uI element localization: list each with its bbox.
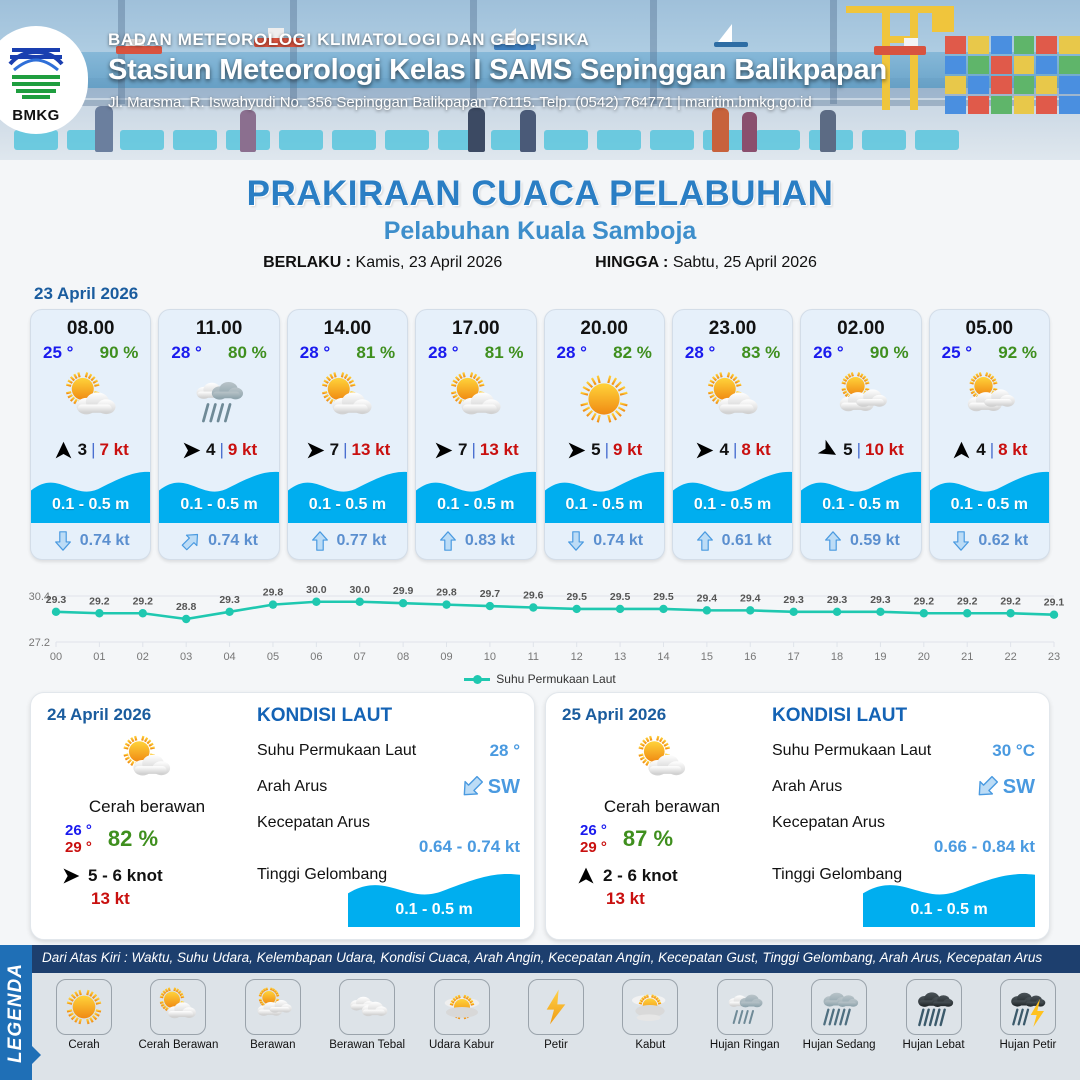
current-direction-arrow-icon [176, 525, 207, 556]
hourly-wind-sep: | [219, 440, 223, 460]
legend-icon-box [434, 979, 490, 1035]
hourly-wind: 4 | 9 kt [159, 435, 278, 465]
wind-direction-arrow-icon [576, 866, 596, 886]
daily-humidity: 87 % [623, 826, 673, 852]
hourly-time: 11.00 [159, 310, 278, 340]
svg-text:22: 22 [1004, 651, 1016, 663]
hourly-current-speed: 0.62 kt [978, 532, 1028, 550]
wind-direction-arrow-icon [566, 440, 587, 461]
hourly-wind: 7 | 13 kt [416, 435, 535, 465]
hourly-humidity: 92 % [998, 343, 1037, 363]
hourly-wind: 5 | 10 kt [801, 435, 920, 465]
daily-wave: 0.1 - 0.5 m [348, 869, 520, 927]
petir-icon [532, 983, 580, 1031]
hourly-humidity: 90 % [100, 343, 139, 363]
hourly-current-speed: 0.61 kt [722, 532, 772, 550]
hourly-card: 08.00 25 ° 90 % 3 | 7 kt 0.1 - 0.5 m 0.7… [30, 309, 151, 560]
hourly-weather-icon [31, 363, 150, 435]
daily-temps: 26 ° 29 ° 87 % [562, 822, 762, 857]
current-direction-value: SW [488, 776, 520, 799]
hourly-current-speed: 0.74 kt [593, 532, 643, 550]
svg-text:29.4: 29.4 [740, 592, 761, 604]
svg-text:29.5: 29.5 [653, 591, 674, 603]
hourly-current: 0.61 kt [673, 523, 792, 559]
svg-text:09: 09 [440, 651, 452, 663]
svg-text:23: 23 [1048, 651, 1060, 663]
hourly-card: 05.00 25 ° 92 % 4 | 8 kt 0.1 - 0.5 m [929, 309, 1050, 560]
svg-text:29.3: 29.3 [783, 594, 804, 606]
current-direction-arrow-icon [52, 530, 74, 552]
legend-icon-box [811, 979, 867, 1035]
hourly-wind-dir-value: 3 [78, 440, 87, 460]
hourly-time: 02.00 [801, 310, 920, 340]
hourly-wave: 0.1 - 0.5 m [673, 467, 792, 523]
wind-direction-arrow-icon [694, 440, 715, 461]
page-title: PRAKIRAAN CUACA PELABUHAN [0, 174, 1080, 214]
wave-graphic [545, 467, 665, 523]
wave-graphic [801, 467, 921, 523]
berawan-icon [956, 366, 1022, 432]
current-direction-arrow-icon [453, 769, 490, 806]
hourly-temperature: 28 ° [685, 343, 715, 363]
current-speed-label: Kecepatan Arus [257, 814, 370, 832]
cerah-berawan-icon [314, 366, 380, 432]
legend-item: Hujan Ringan [701, 979, 789, 1076]
current-direction-value-group: SW [974, 774, 1035, 800]
hourly-time: 23.00 [673, 310, 792, 340]
hourly-wind: 4 | 8 kt [930, 435, 1049, 465]
current-direction-arrow-icon [565, 530, 587, 552]
daily-forecast-card: 25 April 2026 Cerah berawan 26 ° 29 ° 87… [545, 692, 1050, 940]
svg-text:29.5: 29.5 [610, 591, 631, 603]
legend-icon-box [622, 979, 678, 1035]
daily-date: 24 April 2026 [47, 705, 247, 725]
legend-item: Berawan Tebal [323, 979, 411, 1076]
sea-condition-heading: KONDISI LAUT [772, 705, 1035, 727]
hourly-time: 14.00 [288, 310, 407, 340]
svg-text:29.2: 29.2 [133, 595, 154, 607]
hourly-wave-height: 0.1 - 0.5 m [801, 496, 920, 514]
daily-temp-max: 29 ° [580, 839, 607, 856]
valid-from-value: Kamis, 23 April 2026 [356, 254, 503, 271]
svg-text:14: 14 [657, 651, 669, 663]
cerah-berawan-icon [443, 366, 509, 432]
hourly-current: 0.74 kt [159, 523, 278, 559]
hourly-wave: 0.1 - 0.5 m [416, 467, 535, 523]
svg-text:20: 20 [918, 651, 930, 663]
svg-text:13: 13 [614, 651, 626, 663]
svg-text:29.2: 29.2 [89, 595, 110, 607]
hourly-current-speed: 0.74 kt [208, 532, 258, 550]
sst-chart: 30.427.200010203040506070809101112131415… [0, 568, 1080, 676]
current-direction-label: Arah Arus [257, 778, 327, 796]
validity-row: BERLAKU : Kamis, 23 April 2026 HINGGA : … [0, 254, 1080, 272]
svg-text:29.8: 29.8 [436, 587, 457, 599]
cerah-berawan-icon [700, 366, 766, 432]
legend-item-label: Kabut [635, 1039, 665, 1051]
hourly-temperature: 28 ° [557, 343, 587, 363]
hourly-current: 0.77 kt [288, 523, 407, 559]
daily-date: 25 April 2026 [562, 705, 762, 725]
wave-graphic [673, 467, 793, 523]
wind-direction-arrow-icon [814, 436, 843, 465]
legend-icon-box [528, 979, 584, 1035]
hourly-wind-sep: | [91, 440, 95, 460]
legend-item-label: Hujan Ringan [710, 1039, 780, 1051]
hourly-temperature: 28 ° [171, 343, 201, 363]
hourly-weather-icon [930, 363, 1049, 435]
daily-temp-max: 29 ° [65, 839, 92, 856]
hourly-time: 17.00 [416, 310, 535, 340]
legend-item-label: Udara Kabur [429, 1039, 494, 1051]
hourly-wave-height: 0.1 - 0.5 m [545, 496, 664, 514]
hourly-current: 0.59 kt [801, 523, 920, 559]
svg-text:08: 08 [397, 651, 409, 663]
hourly-temperature: 26 ° [813, 343, 843, 363]
hourly-wind-sep: | [733, 440, 737, 460]
hourly-wave-height: 0.1 - 0.5 m [930, 496, 1049, 514]
daily-condition: Cerah berawan [47, 797, 247, 817]
sst-label: Suhu Permukaan Laut [257, 742, 416, 760]
hourly-humidity: 80 % [228, 343, 267, 363]
svg-text:29.1: 29.1 [1044, 597, 1065, 609]
valid-from-label: BERLAKU : [263, 254, 351, 271]
current-speed-row: Kecepatan Arus [772, 805, 1035, 841]
current-direction-arrow-icon [968, 769, 1005, 806]
svg-text:29.2: 29.2 [914, 595, 935, 607]
legend-item: Hujan Petir [984, 979, 1072, 1076]
svg-text:05: 05 [267, 651, 279, 663]
hourly-wave: 0.1 - 0.5 m [545, 467, 664, 523]
hourly-humidity: 81 % [485, 343, 524, 363]
hourly-time: 05.00 [930, 310, 1049, 340]
daily-forecast-row: 24 April 2026 Cerah berawan 26 ° 29 ° 82… [0, 686, 1080, 940]
hourly-weather-icon [288, 363, 407, 435]
svg-text:27.2: 27.2 [29, 637, 50, 649]
current-direction-value-group: SW [459, 774, 520, 800]
sst-value: 30 °C [992, 741, 1035, 761]
sst-row: Suhu Permukaan Laut 30 °C [772, 733, 1035, 769]
hourly-wave: 0.1 - 0.5 m [288, 467, 407, 523]
svg-text:01: 01 [93, 651, 105, 663]
berawan-icon [828, 366, 894, 432]
daily-wave-height-value: 0.1 - 0.5 m [863, 901, 1035, 919]
daily-wind-range: 2 - 6 knot [603, 866, 678, 886]
legend-icon-box [717, 979, 773, 1035]
legend-item: Hujan Sedang [795, 979, 883, 1076]
legend-note: Dari Atas Kiri : Waktu, Suhu Udara, Kele… [32, 945, 1080, 973]
hourly-wave-height: 0.1 - 0.5 m [159, 496, 278, 514]
hourly-card: 14.00 28 ° 81 % 7 | 13 kt 0.1 - 0.5 m 0.… [287, 309, 408, 560]
svg-text:28.8: 28.8 [176, 601, 197, 613]
cerah-icon [60, 983, 108, 1031]
legend-item: Petir [512, 979, 600, 1076]
hourly-wind-dir-value: 7 [458, 440, 467, 460]
hujan-ringan-icon [721, 983, 769, 1031]
hourly-wave-height: 0.1 - 0.5 m [288, 496, 407, 514]
legend-item: Berawan [229, 979, 317, 1076]
hourly-gust: 9 kt [228, 440, 257, 460]
svg-text:29.9: 29.9 [393, 585, 414, 597]
svg-text:29.5: 29.5 [566, 591, 587, 603]
berawan-tebal-icon [343, 983, 391, 1031]
svg-text:16: 16 [744, 651, 756, 663]
hourly-wind-dir-value: 7 [330, 440, 339, 460]
svg-text:29.3: 29.3 [827, 594, 848, 606]
daily-gust: 13 kt [562, 889, 762, 909]
hourly-card: 02.00 26 ° 90 % 5 | 10 kt 0.1 - 0.5 m [800, 309, 921, 560]
hourly-current: 0.62 kt [930, 523, 1049, 559]
title-block: PRAKIRAAN CUACA PELABUHAN Pelabuhan Kual… [0, 160, 1080, 272]
hourly-wind-sep: | [857, 440, 861, 460]
legend-item: Kabut [606, 979, 694, 1076]
valid-until-label: HINGGA : [595, 254, 668, 271]
svg-text:00: 00 [50, 651, 62, 663]
chart-legend-swatch [464, 678, 490, 681]
legend-item-label: Berawan [250, 1039, 295, 1051]
current-direction-arrow-icon [309, 530, 331, 552]
svg-text:04: 04 [223, 651, 235, 663]
hourly-wave-height: 0.1 - 0.5 m [673, 496, 792, 514]
hourly-current-speed: 0.59 kt [850, 532, 900, 550]
legend-strip: LEGENDA Dari Atas Kiri : Waktu, Suhu Uda… [0, 945, 1080, 1080]
cerah-icon [571, 366, 637, 432]
legend-icon-box [1000, 979, 1056, 1035]
svg-text:02: 02 [137, 651, 149, 663]
hourly-wind-sep: | [343, 440, 347, 460]
legenda-tab-label: LEGENDA [5, 963, 27, 1063]
hourly-weather-icon [545, 363, 664, 435]
daily-weather-icon [562, 729, 762, 793]
hourly-current: 0.74 kt [545, 523, 664, 559]
legend-item: Cerah [40, 979, 128, 1076]
hourly-wind-dir-value: 4 [976, 440, 985, 460]
daily-wind: 2 - 6 knot [562, 866, 762, 886]
wave-graphic [288, 467, 408, 523]
hourly-forecast-row: 08.00 25 ° 90 % 3 | 7 kt 0.1 - 0.5 m 0.7… [0, 309, 1080, 560]
svg-text:19: 19 [874, 651, 886, 663]
svg-text:21: 21 [961, 651, 973, 663]
hourly-current-speed: 0.83 kt [465, 532, 515, 550]
wind-direction-arrow-icon [61, 866, 81, 886]
daily-weather-icon [47, 729, 247, 793]
current-speed-row: Kecepatan Arus [257, 805, 520, 841]
svg-text:29.2: 29.2 [1000, 595, 1021, 607]
hourly-weather-icon [673, 363, 792, 435]
waiting-chairs-illustration [0, 130, 1080, 156]
legend-item-label: Hujan Petir [999, 1039, 1056, 1051]
bmkg-logo-text: BMKG [12, 107, 59, 124]
daily-forecast-card: 24 April 2026 Cerah berawan 26 ° 29 ° 82… [30, 692, 535, 940]
svg-text:06: 06 [310, 651, 322, 663]
sst-chart-svg: 30.427.200010203040506070809101112131415… [12, 574, 1068, 670]
hourly-current-speed: 0.77 kt [337, 532, 387, 550]
hourly-wind-sep: | [471, 440, 475, 460]
current-speed-value: 0.64 - 0.74 kt [257, 837, 520, 857]
hourly-wave-height: 0.1 - 0.5 m [31, 496, 150, 514]
svg-text:29.7: 29.7 [480, 588, 501, 600]
wave-graphic [930, 467, 1050, 523]
daily-wave: 0.1 - 0.5 m [863, 869, 1035, 927]
valid-until-value: Sabtu, 25 April 2026 [673, 254, 817, 271]
svg-text:30.0: 30.0 [350, 584, 371, 596]
cerah-berawan-icon [58, 366, 124, 432]
wind-direction-arrow-icon [305, 440, 326, 461]
current-direction-row: Arah Arus SW [257, 769, 520, 805]
legenda-tab: LEGENDA [0, 945, 32, 1080]
svg-text:03: 03 [180, 651, 192, 663]
daily-temps: 26 ° 29 ° 82 % [47, 822, 247, 857]
hourly-wind: 7 | 13 kt [288, 435, 407, 465]
sst-label: Suhu Permukaan Laut [772, 742, 931, 760]
wave-graphic [159, 467, 279, 523]
hourly-wind-dir-value: 4 [206, 440, 215, 460]
current-direction-arrow-icon [694, 530, 716, 552]
hourly-weather-icon [416, 363, 535, 435]
hourly-time: 20.00 [545, 310, 664, 340]
svg-text:29.2: 29.2 [957, 595, 978, 607]
legend-items: Cerah Cerah Berawan Berawan Berawan Teba… [32, 973, 1080, 1080]
svg-text:30.0: 30.0 [306, 584, 327, 596]
sea-condition-heading: KONDISI LAUT [257, 705, 520, 727]
sst-value: 28 ° [490, 741, 520, 761]
hourly-current: 0.74 kt [31, 523, 150, 559]
daily-wave-height-value: 0.1 - 0.5 m [348, 901, 520, 919]
hourly-gust: 13 kt [480, 440, 519, 460]
legend-icon-box [245, 979, 301, 1035]
daily-temp-min: 26 ° [580, 822, 607, 839]
legend-item-label: Berawan Tebal [329, 1039, 405, 1051]
daily-condition: Cerah berawan [562, 797, 762, 817]
svg-text:12: 12 [571, 651, 583, 663]
hourly-gust: 9 kt [613, 440, 642, 460]
hourly-wave: 0.1 - 0.5 m [930, 467, 1049, 523]
current-direction-arrow-icon [437, 530, 459, 552]
hourly-current: 0.83 kt [416, 523, 535, 559]
kabut-icon [626, 983, 674, 1031]
hourly-wave: 0.1 - 0.5 m [31, 467, 150, 523]
svg-text:29.3: 29.3 [870, 594, 891, 606]
udara-kabur-icon [438, 983, 486, 1031]
hourly-wave-height: 0.1 - 0.5 m [416, 496, 535, 514]
legend-item-label: Hujan Sedang [803, 1039, 876, 1051]
station-address: Jl. Marsma. R. Iswahyudi No. 356 Sepingg… [108, 94, 1064, 111]
cerah-berawan-icon [116, 730, 178, 792]
current-direction-value: SW [1003, 776, 1035, 799]
hourly-humidity: 81 % [356, 343, 395, 363]
wave-graphic [31, 467, 151, 523]
bmkg-emblem-icon [4, 36, 68, 106]
daily-temp-min: 26 ° [65, 822, 92, 839]
sst-row: Suhu Permukaan Laut 28 ° [257, 733, 520, 769]
current-direction-row: Arah Arus SW [772, 769, 1035, 805]
svg-text:07: 07 [354, 651, 366, 663]
hourly-temperature: 28 ° [428, 343, 458, 363]
legend-icon-box [906, 979, 962, 1035]
current-direction-arrow-icon [950, 530, 972, 552]
hourly-card: 11.00 28 ° 80 % 4 | 9 kt 0.1 - 0.5 m 0.7… [158, 309, 279, 560]
hourly-humidity: 82 % [613, 343, 652, 363]
hourly-wind: 5 | 9 kt [545, 435, 664, 465]
daily-humidity: 82 % [108, 826, 158, 852]
berawan-icon [249, 983, 297, 1031]
legend-icon-box [56, 979, 112, 1035]
svg-text:15: 15 [701, 651, 713, 663]
cerah-berawan-icon [631, 730, 693, 792]
hourly-gust: 8 kt [998, 440, 1027, 460]
hourly-wind: 4 | 8 kt [673, 435, 792, 465]
hourly-wind-dir-value: 4 [719, 440, 728, 460]
hourly-time: 08.00 [31, 310, 150, 340]
page-header: BMKG BADAN METEOROLOGI KLIMATOLOGI DAN G… [0, 0, 1080, 160]
current-direction-arrow-icon [822, 530, 844, 552]
svg-text:29.4: 29.4 [697, 592, 718, 604]
daily-wind: 5 - 6 knot [47, 866, 247, 886]
hourly-wave: 0.1 - 0.5 m [159, 467, 278, 523]
hourly-date-label: 23 April 2026 [34, 284, 1080, 304]
legend-icon-box [150, 979, 206, 1035]
legend-item-label: Petir [544, 1039, 568, 1051]
hourly-wave: 0.1 - 0.5 m [801, 467, 920, 523]
hourly-weather-icon [801, 363, 920, 435]
hourly-wind-sep: | [605, 440, 609, 460]
legend-item-label: Cerah [68, 1039, 99, 1051]
svg-text:17: 17 [788, 651, 800, 663]
svg-text:29.6: 29.6 [523, 590, 544, 602]
hourly-card: 23.00 28 ° 83 % 4 | 8 kt 0.1 - 0.5 m 0.6… [672, 309, 793, 560]
current-speed-value: 0.66 - 0.84 kt [772, 837, 1035, 857]
hourly-wind-sep: | [990, 440, 994, 460]
hourly-gust: 13 kt [352, 440, 391, 460]
hujan-lebat-icon [910, 983, 958, 1031]
daily-gust: 13 kt [47, 889, 247, 909]
current-direction-label: Arah Arus [772, 778, 842, 796]
hujan-sedang-icon [815, 983, 863, 1031]
hourly-temperature: 28 ° [300, 343, 330, 363]
wind-direction-arrow-icon [433, 440, 454, 461]
legend-item-label: Hujan Lebat [903, 1039, 965, 1051]
hujan-petir-icon [1004, 983, 1052, 1031]
legend-item-label: Cerah Berawan [138, 1039, 218, 1051]
svg-text:10: 10 [484, 651, 496, 663]
wind-direction-arrow-icon [53, 440, 74, 461]
legend-icon-box [339, 979, 395, 1035]
wind-direction-arrow-icon [951, 440, 972, 461]
legend-item: Cerah Berawan [134, 979, 222, 1076]
svg-text:29.8: 29.8 [263, 587, 284, 599]
hourly-temperature: 25 ° [942, 343, 972, 363]
svg-text:29.3: 29.3 [46, 594, 67, 606]
hourly-gust: 10 kt [865, 440, 904, 460]
hourly-gust: 7 kt [99, 440, 128, 460]
hourly-humidity: 90 % [870, 343, 909, 363]
station-name: Stasiun Meteorologi Kelas I SAMS Sepingg… [108, 54, 1064, 87]
legend-item: Hujan Lebat [890, 979, 978, 1076]
hujan-ringan-icon [186, 366, 252, 432]
page-subtitle: Pelabuhan Kuala Samboja [0, 217, 1080, 246]
legend-item: Udara Kabur [418, 979, 506, 1076]
cerah-berawan-icon [154, 983, 202, 1031]
wave-graphic [416, 467, 536, 523]
hourly-card: 17.00 28 ° 81 % 7 | 13 kt 0.1 - 0.5 m 0.… [415, 309, 536, 560]
hourly-temperature: 25 ° [43, 343, 73, 363]
hourly-wind-dir-value: 5 [843, 440, 852, 460]
hourly-weather-icon [159, 363, 278, 435]
svg-text:18: 18 [831, 651, 843, 663]
daily-wind-range: 5 - 6 knot [88, 866, 163, 886]
agency-name: BADAN METEOROLOGI KLIMATOLOGI DAN GEOFIS… [108, 30, 1064, 50]
svg-text:29.3: 29.3 [219, 594, 240, 606]
